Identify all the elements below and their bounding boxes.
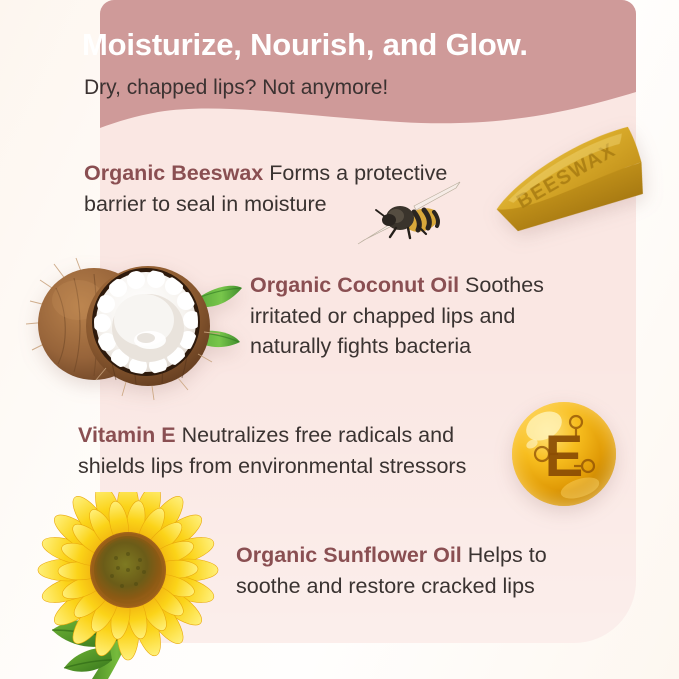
- ingredient-sunflower-text: Organic Sunflower Oil Helps to soothe an…: [236, 540, 586, 601]
- ingredient-term-beeswax: Organic Beeswax: [84, 161, 263, 185]
- sunflower-image: [8, 492, 244, 679]
- infographic-root: Moisturize, Nourish, and Glow. Dry, chap…: [0, 0, 679, 679]
- vitamin-e-capsule-image: E: [506, 396, 622, 512]
- ingredient-term-vitamin-e: Vitamin E: [78, 423, 176, 447]
- coconut-image: [22, 248, 244, 406]
- ingredient-vitamin-e-text: Vitamin E Neutralizes free radicals and …: [78, 420, 508, 481]
- ingredient-term-sunflower: Organic Sunflower Oil: [236, 543, 462, 567]
- bee-image: [356, 176, 464, 250]
- page-headline: Moisturize, Nourish, and Glow.: [82, 28, 642, 62]
- ingredient-term-coconut: Organic Coconut Oil: [250, 273, 459, 297]
- ingredient-coconut-text: Organic Coconut Oil Soothes irritated or…: [250, 270, 580, 362]
- page-subheadline: Dry, chapped lips? Not anymore!: [84, 76, 604, 100]
- vitamin-e-letter-text: E: [545, 424, 584, 489]
